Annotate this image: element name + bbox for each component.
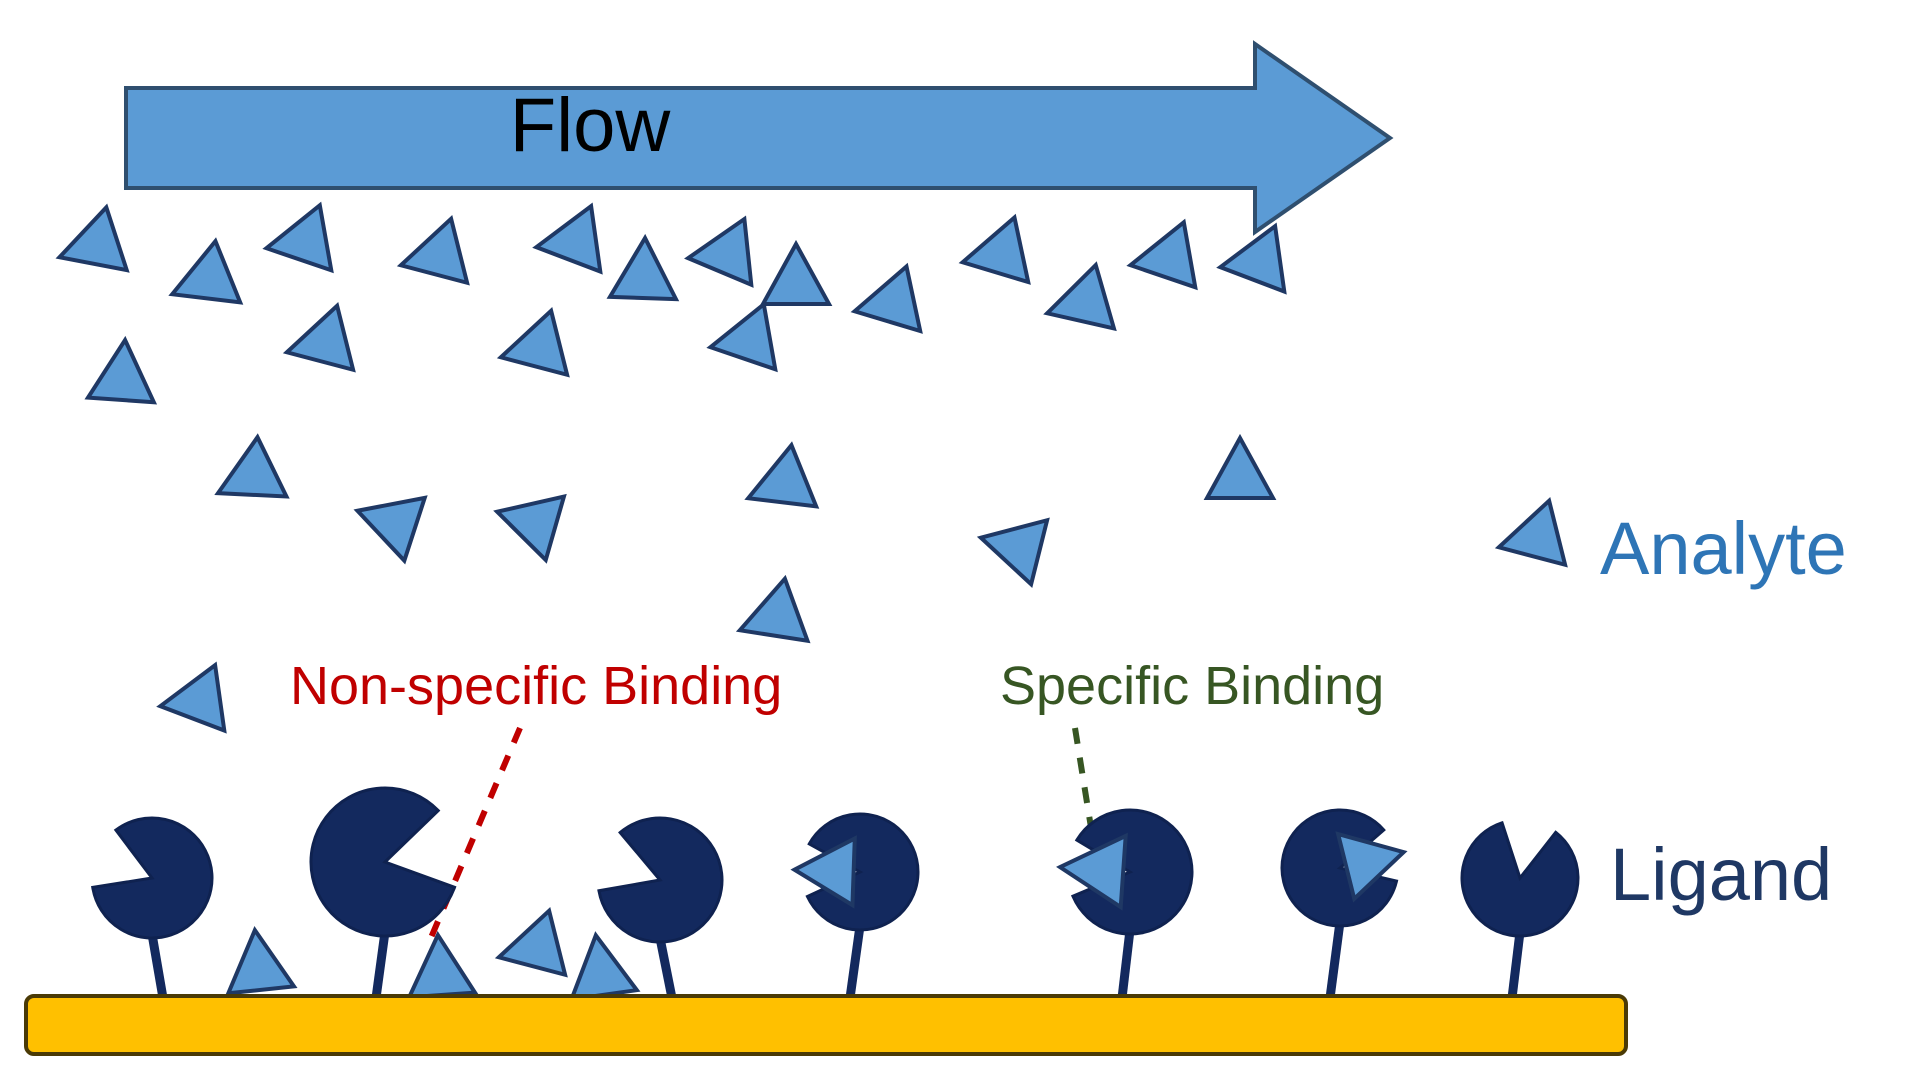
- analyte-particle: [1038, 265, 1114, 345]
- analyte-particle: [261, 205, 332, 280]
- leader-line-layer: [430, 728, 1093, 940]
- nonspecific-bound-analyte: [563, 931, 637, 1000]
- nonspecific-binding-label: Non-specific Binding: [290, 659, 782, 713]
- analyte-particle: [279, 306, 353, 385]
- analyte-particle: [1207, 438, 1273, 498]
- analyte-particle: [973, 506, 1047, 585]
- analyte-particle: [1125, 222, 1196, 297]
- analyte-particle: [204, 437, 287, 523]
- ligand-stem: [850, 926, 860, 998]
- analyte-particle: [705, 304, 776, 379]
- analyte-particle: [610, 237, 678, 299]
- nonspecific-bound-analyte: [405, 933, 475, 997]
- analyte-particle: [763, 244, 829, 304]
- analyte-particle: [736, 445, 816, 529]
- analyte-particle: [160, 241, 240, 325]
- nonspecific-bound-analyte: [491, 911, 565, 990]
- ligand-free: [1462, 823, 1578, 998]
- ligand-legend-label: Ligand: [1610, 838, 1832, 912]
- ligand-head: [311, 788, 455, 936]
- analyte-particle: [1491, 501, 1565, 580]
- ligand-stem: [376, 932, 385, 998]
- ligand-head: [1462, 823, 1578, 936]
- ligand-stem: [660, 938, 672, 998]
- analyte-particle: [393, 219, 467, 298]
- specific-binding-label: Specific Binding: [1000, 659, 1384, 713]
- ligand-stem: [152, 934, 163, 998]
- analyte-particle: [347, 479, 424, 560]
- analyte-particle: [49, 207, 126, 288]
- analyte-particle: [848, 266, 920, 343]
- analyte-particle: [532, 206, 601, 280]
- ligand-bound: [1282, 810, 1412, 998]
- analyte-particle: [729, 579, 808, 662]
- substrate-bar: [26, 996, 1626, 1054]
- nonspecific-analyte-layer: [222, 911, 637, 1000]
- analyte-particle: [1216, 226, 1285, 300]
- ligand-layer: [93, 788, 1578, 998]
- analyte-legend-label: Analyte: [1600, 512, 1847, 586]
- ligand-bound: [1058, 810, 1192, 998]
- ligand-head: [599, 818, 722, 942]
- ligand-stem: [1122, 930, 1130, 998]
- analyte-particle: [493, 311, 567, 390]
- ligand-stem: [1512, 932, 1520, 998]
- analyte-particle: [956, 217, 1028, 294]
- analyte-particle: [156, 665, 225, 739]
- analyte-particle: [488, 480, 564, 560]
- ligand-free: [93, 818, 212, 998]
- nonspecific-bound-analyte: [222, 927, 294, 994]
- diagram-canvas: Flow Analyte Ligand Non-specific Binding…: [0, 0, 1920, 1080]
- ligand-head: [93, 818, 212, 938]
- analyte-particle: [685, 219, 752, 291]
- ligand-stem: [1330, 922, 1340, 998]
- ligand-bound: [793, 814, 918, 998]
- flow-label: Flow: [0, 88, 1180, 164]
- analyte-particle: [88, 338, 158, 402]
- substrate-surface: [26, 996, 1626, 1054]
